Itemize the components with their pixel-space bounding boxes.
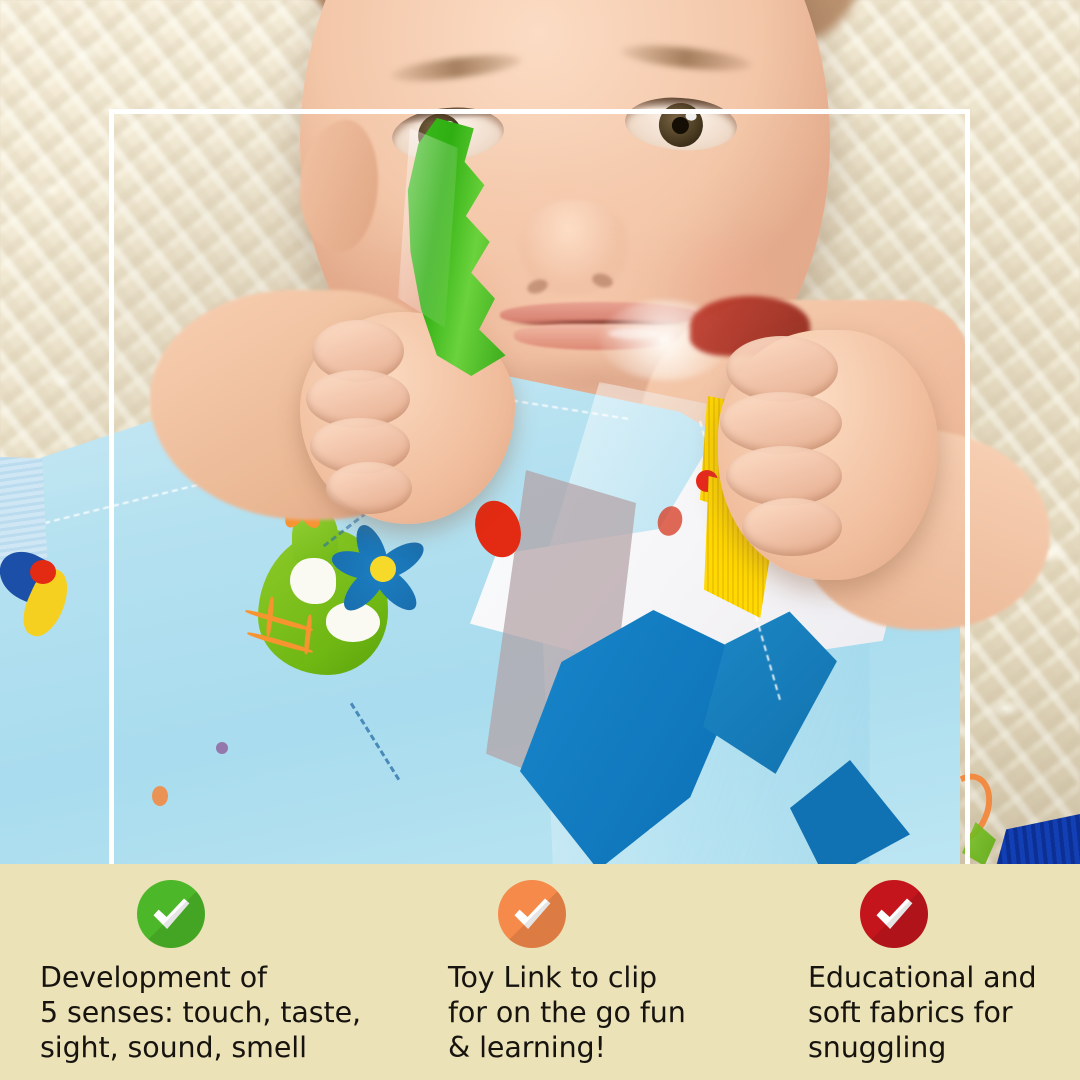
- icon-shading: [137, 880, 205, 948]
- knuckle: [742, 498, 842, 556]
- product-feature-graphic: Development of 5 senses: touch, taste, s…: [0, 0, 1080, 1080]
- check-circle-icon: [498, 880, 566, 948]
- feature-list-panel: Development of 5 senses: touch, taste, s…: [0, 864, 1080, 1080]
- feature-item: Development of 5 senses: touch, taste, s…: [0, 864, 360, 1080]
- icon-shading: [498, 880, 566, 948]
- check-circle-icon: [860, 880, 928, 948]
- icon-shading: [860, 880, 928, 948]
- knuckle: [326, 462, 412, 514]
- knuckle: [720, 392, 842, 454]
- feature-item: Toy Link to clip for on the go fun & lea…: [360, 864, 720, 1080]
- feature-text: Development of 5 senses: touch, taste, s…: [40, 960, 380, 1065]
- check-circle-icon: [137, 880, 205, 948]
- baby-hand-right: [718, 330, 938, 580]
- knuckle: [726, 446, 842, 506]
- blanket-print-mini-plane-red: [30, 560, 56, 584]
- propeller-hub: [370, 556, 396, 582]
- feature-item: Educational and soft fabrics for snuggli…: [720, 864, 1080, 1080]
- feature-text: Toy Link to clip for on the go fun & lea…: [448, 960, 728, 1065]
- blanket-print-orange-dot: [152, 786, 168, 806]
- feature-text: Educational and soft fabrics for snuggli…: [808, 960, 1080, 1065]
- product-photo: [0, 0, 1080, 864]
- blanket-print-purple-dot: [216, 742, 228, 754]
